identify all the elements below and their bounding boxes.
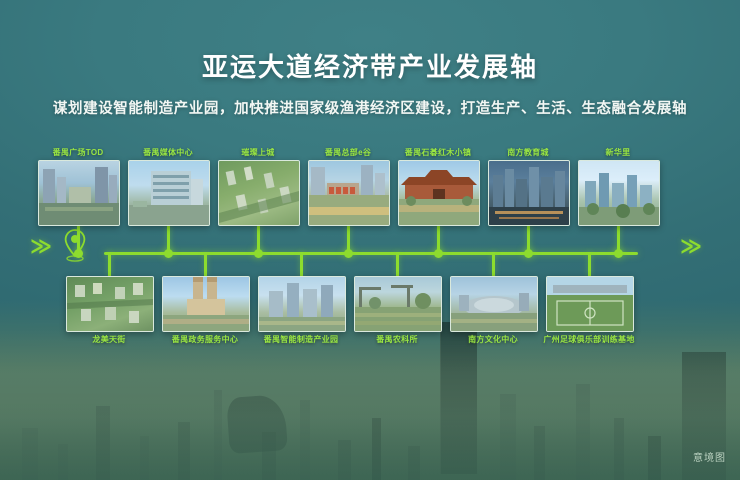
thumbnail-card[interactable] bbox=[578, 160, 660, 226]
bottom-caption: 龙美天街 bbox=[66, 334, 152, 345]
timeline-node bbox=[614, 249, 623, 258]
top-caption: 璀璨上城 bbox=[218, 147, 298, 158]
timeline-axis bbox=[104, 252, 638, 255]
thumbnail-card[interactable] bbox=[450, 276, 538, 332]
page-title: 亚运大道经济带产业发展轴 bbox=[0, 47, 740, 84]
skyline-building bbox=[500, 394, 516, 480]
skyline-building bbox=[372, 418, 381, 480]
bottom-caption: 广州足球俱乐部训练基地 bbox=[531, 334, 647, 345]
skyline-building bbox=[408, 446, 420, 480]
thumbnail-image-modern-glass-building bbox=[129, 161, 209, 225]
thumbnail-card[interactable] bbox=[354, 276, 442, 332]
thumbnail-image-aerial-urban-towers bbox=[39, 161, 119, 225]
timeline-node bbox=[344, 249, 353, 258]
watermark-label: 意境图 bbox=[693, 449, 726, 464]
connector-stem-down bbox=[204, 252, 207, 276]
thumbnail-image-blue-towers-daylight bbox=[579, 161, 659, 225]
skyline-building bbox=[58, 444, 68, 480]
thumbnail-card[interactable] bbox=[398, 160, 480, 226]
skyline-building bbox=[576, 384, 590, 480]
thumbnail-image-chinese-pavilion-hall bbox=[399, 161, 479, 225]
skyline-building bbox=[338, 440, 351, 480]
skyline-building bbox=[614, 418, 624, 480]
bottom-caption: 番禺智能制造产业园 bbox=[251, 334, 351, 345]
poster-canvas: 亚运大道经济带产业发展轴 谋划建设智能制造产业园，加快推进国家级渔港经济区建设，… bbox=[0, 0, 740, 480]
skyline-building bbox=[140, 436, 149, 480]
top-caption: 南方教育城 bbox=[488, 147, 568, 158]
connector-stem-down bbox=[492, 252, 495, 276]
top-caption: 新华里 bbox=[578, 147, 658, 158]
thumbnail-image-farmland-research-site bbox=[355, 277, 441, 331]
top-caption: 番禺总部e谷 bbox=[308, 147, 388, 158]
chevron-right-icon: ≫ bbox=[680, 236, 698, 257]
skyline-building bbox=[178, 422, 190, 480]
thumbnail-card[interactable] bbox=[128, 160, 210, 226]
skyline-building bbox=[96, 406, 110, 480]
bottom-caption: 番禺政务服务中心 bbox=[157, 334, 253, 345]
thumbnail-card[interactable] bbox=[218, 160, 300, 226]
bottom-caption: 番禺农科所 bbox=[354, 334, 440, 345]
thumbnail-image-office-park-entrance bbox=[309, 161, 389, 225]
thumbnail-card[interactable] bbox=[162, 276, 250, 332]
timeline-node bbox=[524, 249, 533, 258]
thumbnail-card[interactable] bbox=[258, 276, 346, 332]
page-subtitle: 谋划建设智能制造产业园，加快推进国家级渔港经济区建设，打造生产、生活、生态融合发… bbox=[0, 97, 740, 118]
top-caption: 番禺石碁红木小镇 bbox=[393, 147, 483, 158]
thumbnail-image-cultural-center-plaza bbox=[451, 277, 537, 331]
connector-stem-down bbox=[108, 252, 111, 276]
timeline-node bbox=[164, 249, 173, 258]
thumbnail-card[interactable] bbox=[66, 276, 154, 332]
top-caption: 番禺媒体中心 bbox=[128, 147, 208, 158]
skyline-building bbox=[300, 400, 310, 480]
bottom-caption: 南方文化中心 bbox=[450, 334, 536, 345]
connector-stem-down bbox=[588, 252, 591, 276]
thumbnail-image-night-city-skyline bbox=[489, 161, 569, 225]
skyline-building bbox=[214, 390, 222, 480]
thumbnail-card[interactable] bbox=[38, 160, 120, 226]
connector-stem-down bbox=[396, 252, 399, 276]
thumbnail-image-aerial-residential-green bbox=[219, 161, 299, 225]
top-caption: 番禺广场TOD bbox=[38, 147, 118, 158]
timeline-node bbox=[74, 249, 83, 258]
thumbnail-image-civic-center-building bbox=[163, 277, 249, 331]
connector-stem-down bbox=[300, 252, 303, 276]
thumbnail-card[interactable] bbox=[546, 276, 634, 332]
chevron-left-icon: ≫ bbox=[30, 236, 48, 257]
timeline-node bbox=[254, 249, 263, 258]
thumbnail-card[interactable] bbox=[308, 160, 390, 226]
skyline-building bbox=[22, 428, 38, 480]
thumbnail-card[interactable] bbox=[488, 160, 570, 226]
timeline-node bbox=[434, 249, 443, 258]
thumbnail-image-football-training-pitch bbox=[547, 277, 633, 331]
skyline-building bbox=[648, 436, 661, 480]
thumbnail-image-aerial-street-block bbox=[67, 277, 153, 331]
skyline-building bbox=[534, 426, 545, 480]
thumbnail-image-industrial-park-towers bbox=[259, 277, 345, 331]
